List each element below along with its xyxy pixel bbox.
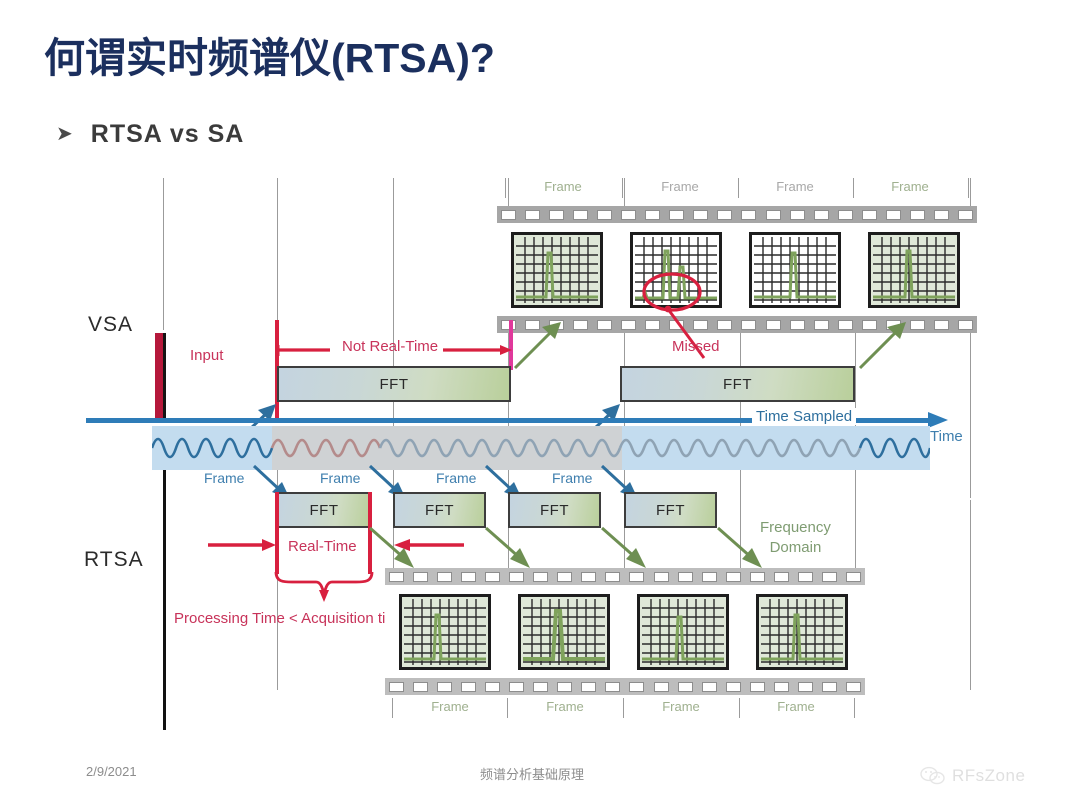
gridline xyxy=(277,178,278,330)
spectrum-frame xyxy=(868,232,960,308)
real-time-start-marker xyxy=(275,492,279,574)
sprocket-hole xyxy=(533,572,548,582)
frame-tick xyxy=(623,698,624,718)
row-label-vsa: VSA xyxy=(88,313,133,337)
sprocket-hole xyxy=(581,572,596,582)
frame-tick xyxy=(507,698,508,718)
sprocket-hole xyxy=(798,682,813,692)
page-title: 何谓实时频谱仪(RTSA)? xyxy=(44,24,495,84)
frame-tick xyxy=(968,178,969,198)
frame-tick xyxy=(392,698,393,718)
sprocket-hole xyxy=(838,320,853,330)
fft-to-frame-arrow xyxy=(511,318,571,372)
rtsa-frame-label: Frame xyxy=(204,470,244,486)
top-frame-label-row: Frame Frame Frame Frame xyxy=(0,178,1080,200)
spectrum-plot xyxy=(642,599,724,665)
sprocket-hole xyxy=(678,572,693,582)
sprocket-hole xyxy=(389,572,404,582)
filmstrip-sprocket-bar-top xyxy=(385,568,865,585)
sprocket-hole xyxy=(886,210,901,220)
spectrum-plot xyxy=(516,237,598,303)
time-sampled-label: Time Sampled xyxy=(752,408,856,425)
top-frame-label: Frame xyxy=(891,179,929,194)
rtsa-frame-label: Frame xyxy=(552,470,592,486)
sprocket-hole xyxy=(389,682,404,692)
filmstrip-sprocket-bar-top xyxy=(497,206,977,223)
sprocket-hole xyxy=(597,210,612,220)
sprocket-hole xyxy=(717,210,732,220)
footer-date: 2/9/2021 xyxy=(86,764,137,779)
missed-label: Missed xyxy=(672,338,720,355)
row-label-rtsa: RTSA xyxy=(84,548,144,572)
top-frame-label: Frame xyxy=(776,179,814,194)
frame-tick xyxy=(505,178,506,198)
spectrum-plot xyxy=(754,237,836,303)
rtsa-fft-box: FFT xyxy=(393,492,486,528)
sprocket-hole xyxy=(846,682,861,692)
rtsa-vs-sa-diagram: Frame Frame Frame Frame xyxy=(0,170,1080,740)
input-marker-shadow xyxy=(163,333,166,421)
sprocket-hole xyxy=(557,682,572,692)
time-axis-label: Time xyxy=(930,428,963,445)
spectrum-frame xyxy=(399,594,491,670)
gridline xyxy=(970,500,971,690)
sprocket-hole xyxy=(654,572,669,582)
rtsa-frame-label: Frame xyxy=(320,470,360,486)
sprocket-hole xyxy=(605,682,620,692)
sprocket-hole xyxy=(621,210,636,220)
rtsa-frame-label: Frame xyxy=(436,470,476,486)
sprocket-hole xyxy=(654,682,669,692)
frame-tick xyxy=(854,698,855,718)
sprocket-hole xyxy=(693,210,708,220)
spectrum-frame xyxy=(511,232,603,308)
top-frame-label: Frame xyxy=(661,179,699,194)
sprocket-hole xyxy=(910,210,925,220)
top-frame-label: Frame xyxy=(544,179,582,194)
sprocket-hole xyxy=(573,210,588,220)
spectrum-frame xyxy=(518,594,610,670)
real-time-left-arrow xyxy=(206,538,282,554)
sprocket-hole xyxy=(533,682,548,692)
sprocket-hole xyxy=(597,320,612,330)
sprocket-hole xyxy=(766,320,781,330)
sprocket-hole xyxy=(461,682,476,692)
sprocket-hole xyxy=(790,320,805,330)
processing-time-note: Processing Time < Acquisition time! xyxy=(174,610,410,627)
bullet-row: ➤ RTSA vs SA xyxy=(56,120,244,149)
footer-subject: 频谱分析基础原理 xyxy=(480,764,584,783)
watermark: RFsZone xyxy=(920,766,1025,786)
sprocket-hole xyxy=(822,682,837,692)
sprocket-hole xyxy=(814,210,829,220)
sprocket-hole xyxy=(629,572,644,582)
input-label: Input xyxy=(190,347,223,364)
sprocket-hole xyxy=(509,682,524,692)
gridline xyxy=(163,178,164,330)
bottom-frame-label: Frame xyxy=(662,699,700,714)
spectrum-frame xyxy=(637,594,729,670)
rtsa-fft-box: FFT xyxy=(508,492,601,528)
bottom-frame-label: Frame xyxy=(546,699,584,714)
spectrum-plot xyxy=(873,237,955,303)
spectrum-frame xyxy=(756,594,848,670)
sprocket-hole xyxy=(750,572,765,582)
bullet-label: RTSA vs SA xyxy=(91,120,245,149)
sprocket-hole xyxy=(557,572,572,582)
vsa-fft-box: FFT xyxy=(620,366,855,402)
wechat-icon xyxy=(920,766,946,786)
fft-to-frame-arrow xyxy=(856,318,916,372)
bottom-filmstrip xyxy=(385,568,865,695)
sprocket-hole xyxy=(702,572,717,582)
sprocket-hole xyxy=(581,682,596,692)
filmstrip-sprocket-bar-bottom xyxy=(385,678,865,695)
sprocket-hole xyxy=(485,682,500,692)
sprocket-hole xyxy=(750,682,765,692)
sprocket-hole xyxy=(645,210,660,220)
bottom-frame-label: Frame xyxy=(431,699,469,714)
sprocket-hole xyxy=(485,572,500,582)
frame-tick xyxy=(738,178,739,198)
vsa-fft-box: FFT xyxy=(277,366,511,402)
sprocket-hole xyxy=(774,572,789,582)
watermark-text: RFsZone xyxy=(952,766,1025,786)
rtsa-fft-box: FFT xyxy=(624,492,717,528)
sprocket-hole xyxy=(501,210,516,220)
sprocket-hole xyxy=(437,572,452,582)
spectrum-plot xyxy=(761,599,843,665)
sprocket-hole xyxy=(934,210,949,220)
sprocket-hole xyxy=(958,210,973,220)
sprocket-hole xyxy=(798,572,813,582)
real-time-brace xyxy=(272,570,376,604)
spectrum-frame xyxy=(749,232,841,308)
sprocket-hole xyxy=(605,572,620,582)
real-time-label: Real-Time xyxy=(288,538,357,555)
sprocket-hole xyxy=(934,320,949,330)
not-real-time-arrows xyxy=(276,344,516,360)
sprocket-hole xyxy=(437,682,452,692)
slide-root: 何谓实时频谱仪(RTSA)? ➤ RTSA vs SA xyxy=(0,0,1080,810)
sprocket-hole xyxy=(790,210,805,220)
rtsa-fft-box: FFT xyxy=(277,492,371,528)
sprocket-hole xyxy=(461,572,476,582)
frame-tick xyxy=(622,178,623,198)
frequency-domain-line2: Domain xyxy=(760,538,831,558)
spectrum-plot xyxy=(523,599,605,665)
sprocket-hole xyxy=(702,682,717,692)
sprocket-hole xyxy=(958,320,973,330)
sprocket-hole xyxy=(413,682,428,692)
sprocket-hole xyxy=(669,210,684,220)
sprocket-hole xyxy=(766,210,781,220)
sprocket-hole xyxy=(846,572,861,582)
bottom-frame-label: Frame xyxy=(777,699,815,714)
frequency-domain-label: Frequency Domain xyxy=(760,518,831,558)
sprocket-hole xyxy=(678,682,693,692)
sprocket-hole xyxy=(862,210,877,220)
sprocket-hole xyxy=(525,210,540,220)
sprocket-hole xyxy=(838,210,853,220)
sprocket-hole xyxy=(726,682,741,692)
frame-tick xyxy=(739,698,740,718)
sprocket-hole xyxy=(629,682,644,692)
sprocket-hole xyxy=(573,320,588,330)
sprocket-hole xyxy=(413,572,428,582)
bottom-frame-label-row: Frame Frame Frame Frame xyxy=(0,698,1080,720)
sprocket-hole xyxy=(774,682,789,692)
rtsa-axis xyxy=(163,440,166,730)
spectrum-plot xyxy=(404,599,486,665)
bullet-arrow-icon: ➤ xyxy=(56,124,73,144)
missed-annotation-circle xyxy=(630,270,750,380)
sprocket-hole xyxy=(814,320,829,330)
sprocket-hole xyxy=(741,210,756,220)
sprocket-hole xyxy=(549,210,564,220)
sprocket-hole xyxy=(822,572,837,582)
sprocket-hole xyxy=(726,572,741,582)
frequency-domain-line1: Frequency xyxy=(760,518,831,538)
frame-tick xyxy=(853,178,854,198)
sprocket-hole xyxy=(509,572,524,582)
